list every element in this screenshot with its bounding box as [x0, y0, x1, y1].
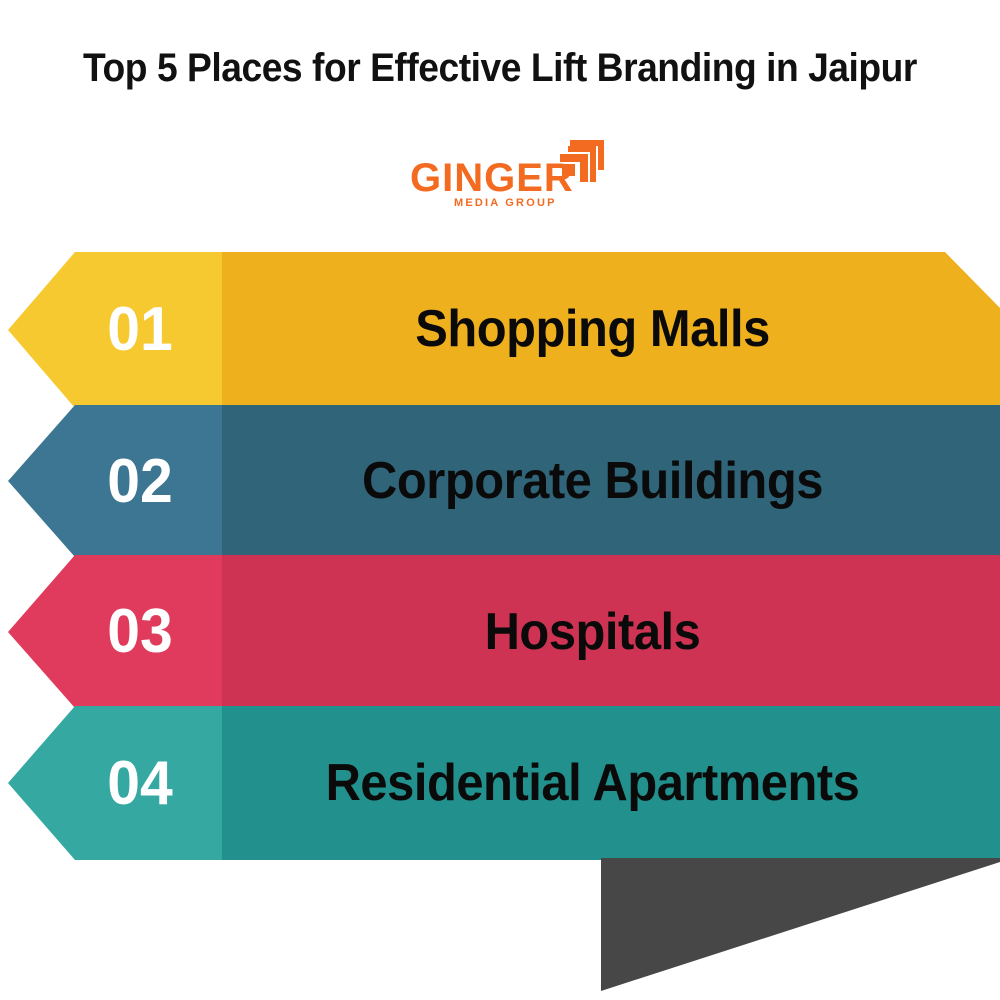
list-item[interactable]: 04 Residential Apartments — [0, 706, 1000, 860]
brand-logo: GINGER MEDIA GROUP — [410, 140, 610, 220]
list-item[interactable]: 02 Corporate Buildings — [0, 405, 1000, 557]
list-item-number: 04 — [64, 706, 216, 860]
infographic-canvas: Top 5 Places for Effective Lift Branding… — [0, 0, 1000, 1000]
list-item[interactable]: 03 Hospitals — [0, 555, 1000, 708]
list-item-label: Corporate Buildings — [247, 405, 938, 557]
list-item-label: Hospitals — [247, 555, 938, 708]
logo-subtitle: MEDIA GROUP — [454, 198, 557, 209]
bottom-gray-wedge — [0, 850, 1000, 1000]
ranked-list: 01 Shopping Malls 02 Corporate Buildings… — [0, 250, 1000, 860]
list-item-number: 03 — [64, 555, 216, 708]
list-item-number: 01 — [64, 250, 216, 408]
logo-wordmark: GINGER — [410, 158, 574, 198]
page-title: Top 5 Places for Effective Lift Branding… — [35, 45, 965, 92]
list-item-label: Residential Apartments — [247, 706, 938, 860]
list-item-label: Shopping Malls — [247, 250, 938, 408]
list-item[interactable]: 01 Shopping Malls — [0, 250, 1000, 408]
nested-square-mark-icon — [558, 140, 604, 182]
list-item-number: 02 — [64, 405, 216, 557]
